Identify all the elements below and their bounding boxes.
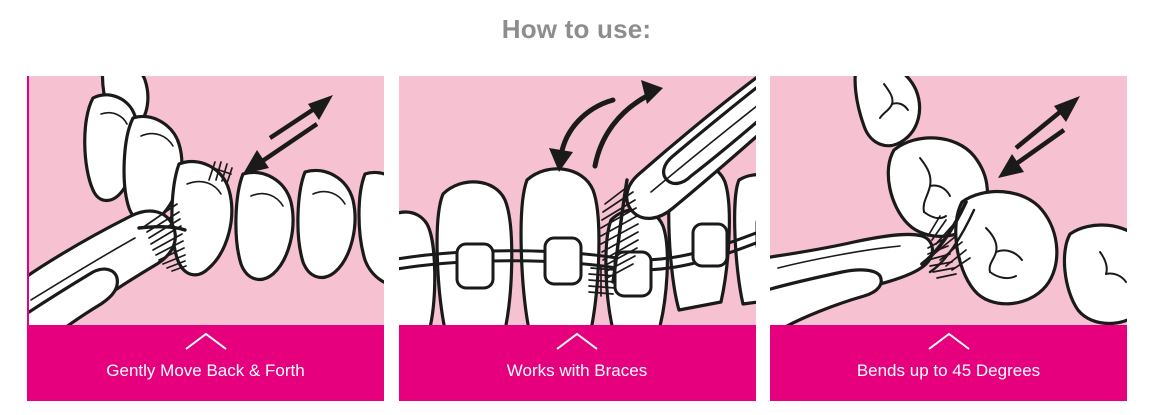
illustration-interdental-brush-with-braces bbox=[399, 76, 756, 325]
panel-bends-up-to-45-degrees[interactable]: Bends up to 45 Degrees bbox=[770, 76, 1127, 401]
arrowhead-curve-up bbox=[641, 80, 663, 104]
arrow-up-right bbox=[1016, 112, 1060, 148]
how-to-use-panels: Gently Move Back & Forth bbox=[27, 76, 1127, 401]
illustration-interdental-brush-between-front-teeth bbox=[27, 76, 384, 325]
panel-gently-move-back-and-forth[interactable]: Gently Move Back & Forth bbox=[27, 76, 384, 401]
caption-label: Works with Braces bbox=[507, 361, 647, 381]
chevron-up-icon bbox=[926, 331, 972, 351]
chevron-up-icon bbox=[183, 331, 229, 351]
caption-label: Bends up to 45 Degrees bbox=[857, 361, 1040, 381]
arrow-up-right bbox=[270, 109, 314, 138]
arrowhead-up-right bbox=[308, 95, 333, 120]
caption-bar: Works with Braces bbox=[399, 325, 756, 401]
panel-left-accent-stripe bbox=[27, 76, 29, 325]
arrow-down-left bbox=[1016, 130, 1064, 164]
arrowhead-up-right bbox=[1054, 96, 1080, 122]
arrowhead-down-left bbox=[998, 154, 1024, 178]
illustration-interdental-brush-bent-between-molars bbox=[770, 76, 1127, 325]
chevron-up-icon bbox=[554, 331, 600, 351]
arrow-curve-up bbox=[595, 96, 647, 166]
arrow-down-left bbox=[261, 124, 317, 162]
page-title: How to use: bbox=[0, 14, 1153, 45]
panel-works-with-braces[interactable]: Works with Braces bbox=[399, 76, 756, 401]
arrow-curve-down bbox=[561, 100, 613, 156]
caption-bar: Gently Move Back & Forth bbox=[27, 325, 384, 401]
caption-label: Gently Move Back & Forth bbox=[106, 361, 304, 381]
arrowhead-down-left bbox=[243, 150, 269, 174]
caption-bar: Bends up to 45 Degrees bbox=[770, 325, 1127, 401]
